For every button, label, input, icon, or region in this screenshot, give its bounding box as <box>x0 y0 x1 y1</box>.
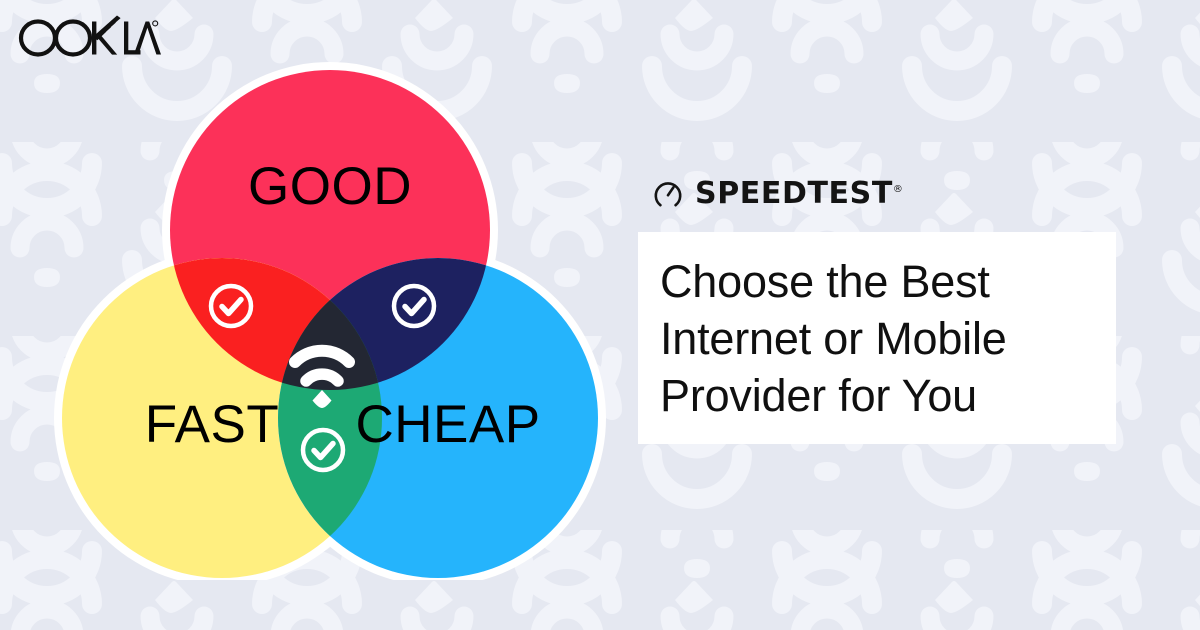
headline-line-1: Choose the Best <box>660 253 1116 310</box>
speedtest-logo[interactable]: SPEEDTEST® <box>638 170 1118 218</box>
headline-line-3: Provider for You <box>660 367 1116 424</box>
registered-trademark-icon: ® <box>893 184 903 195</box>
speedometer-icon <box>652 178 684 210</box>
venn-label-good: GOOD <box>248 157 412 216</box>
venn-diagram: GOOD FAST CHEAP <box>50 60 610 580</box>
right-content-column: SPEEDTEST® Choose the Best Internet or M… <box>638 170 1118 444</box>
venn-label-cheap: CHEAP <box>355 395 540 454</box>
speedtest-wordmark: SPEEDTEST® <box>695 179 903 209</box>
headline-line-2: Internet or Mobile <box>660 310 1116 367</box>
ookla-logo <box>16 14 162 60</box>
speedtest-wordmark-text: SPEEDTEST <box>695 176 893 211</box>
venn-label-fast: FAST <box>145 395 280 454</box>
headline-card: Choose the Best Internet or Mobile Provi… <box>638 232 1116 444</box>
